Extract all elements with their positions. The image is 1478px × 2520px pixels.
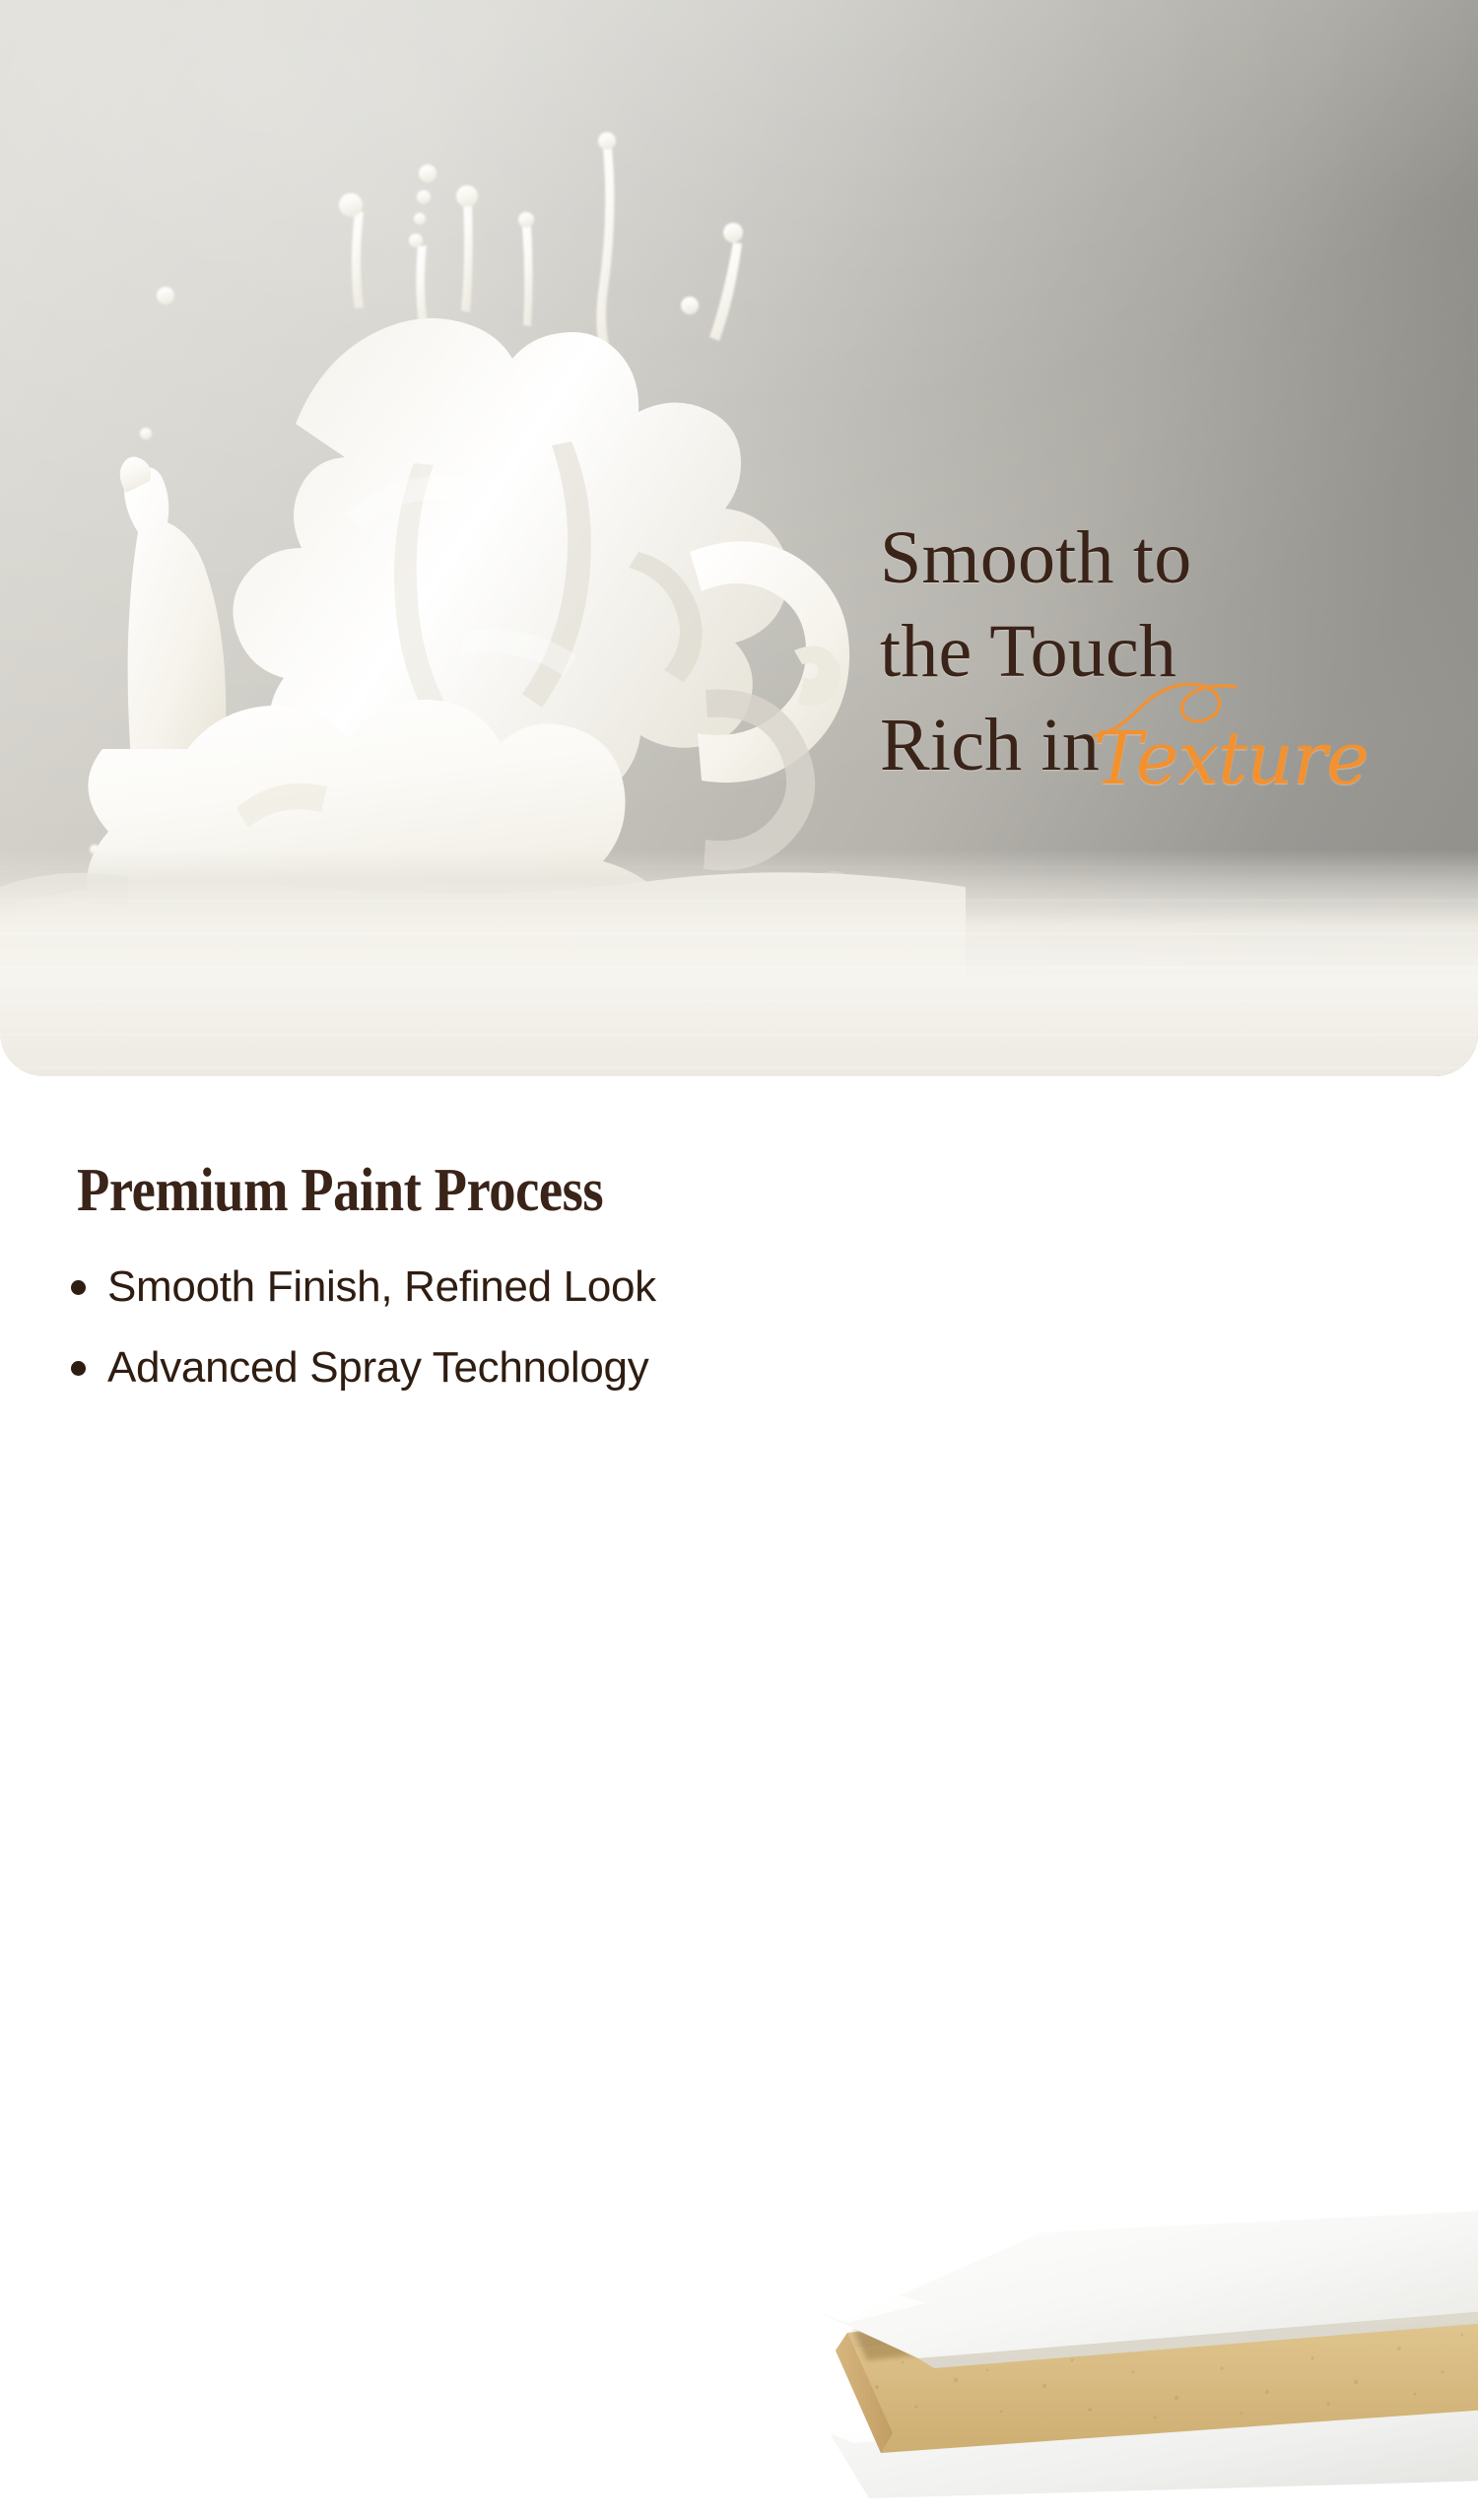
bullet-label: Smooth Finish, Refined Look	[107, 1263, 656, 1311]
headline-line-3-prefix: Rich in	[880, 704, 1100, 786]
hero-splash-photo: Smooth to the Touch Rich inTexture	[0, 0, 1478, 1076]
mdf-board-graphic	[808, 2185, 1478, 2520]
lower-info-band: Premium Paint Process Smooth Finish, Ref…	[0, 1076, 1478, 1444]
feature-bullet-list: Smooth Finish, Refined Look Advanced Spr…	[71, 1263, 820, 1425]
headline-accent-texture: Texture	[1094, 716, 1369, 801]
list-item: Smooth Finish, Refined Look	[71, 1263, 820, 1311]
headline-line-3: Rich inTexture	[880, 699, 1451, 792]
hero-headline: Smooth to the Touch Rich inTexture	[880, 511, 1451, 792]
product-infographic: Smooth to the Touch Rich inTexture Premi…	[0, 0, 1478, 1444]
bullet-dot-icon	[71, 1280, 86, 1295]
headline-line-1: Smooth to	[880, 511, 1451, 605]
bullet-dot-icon	[71, 1361, 86, 1376]
section-title: Premium Paint Process	[77, 1160, 603, 1221]
milk-pool-ripples	[0, 850, 1478, 1076]
headline-line-2: the Touch	[880, 605, 1451, 699]
headline-accent-label: Texture	[1094, 716, 1369, 801]
list-item: Advanced Spray Technology	[71, 1344, 820, 1392]
bullet-label: Advanced Spray Technology	[107, 1344, 648, 1392]
